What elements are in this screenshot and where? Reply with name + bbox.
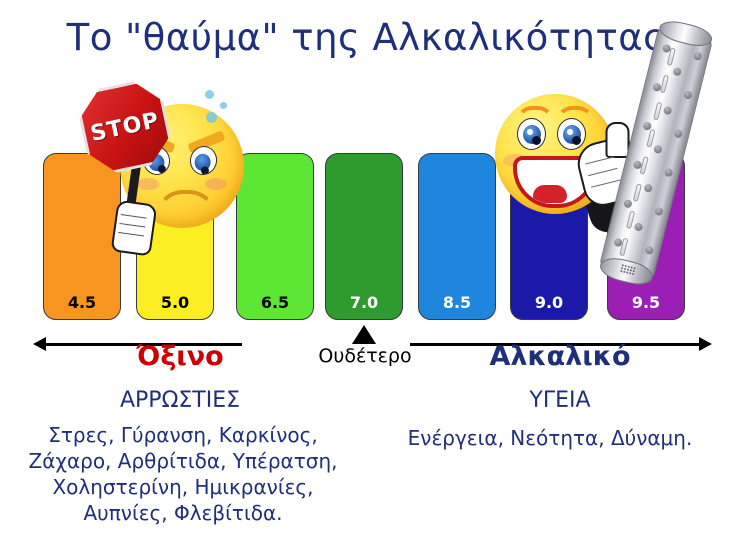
ionizer-perforation-icon (672, 67, 682, 77)
frown-mouth-icon (155, 190, 217, 224)
arrow-right-head-icon (699, 337, 712, 351)
bubble-icon (220, 102, 227, 109)
ph-bar-6-5: 6.5 (236, 153, 314, 320)
ph-bar-value: 5.0 (137, 293, 213, 312)
happy-eye-left-icon (517, 118, 546, 150)
ph-bar-value: 4.5 (44, 293, 120, 312)
mesh-hole-icon (633, 267, 635, 269)
page-title: Το "θαύμα" της Αλκαλικότητας (0, 16, 732, 59)
ph-bar-value: 7.0 (326, 293, 402, 312)
angry-emoji-illustration: STOP (62, 84, 247, 239)
ph-bar-value: 9.5 (608, 293, 684, 312)
bubble-icon (206, 112, 217, 123)
ionizer-slot-icon (653, 102, 662, 121)
arrow-left-head-icon (33, 337, 46, 351)
ionizer-perforation-icon (634, 222, 644, 232)
knuckle-line (588, 168, 617, 176)
iris-icon (193, 152, 212, 172)
ionizer-perforation-icon (644, 245, 654, 255)
ionizer-perforation-icon (673, 129, 683, 139)
ionizer-mesh-icon (619, 264, 637, 279)
stop-sign-label: STOP (88, 108, 161, 147)
alkaline-subheading: ΥΓΕΙΑ (440, 388, 680, 413)
iris-icon (523, 125, 541, 144)
knuckle-line (119, 223, 145, 228)
ionizer-perforation-icon (654, 207, 664, 217)
thumb-icon (606, 122, 630, 158)
neutral-pointer-icon (352, 325, 376, 344)
ionizer-perforation-icon (643, 183, 653, 193)
ionizer-perforation-icon (663, 106, 673, 116)
ionizer-perforation-icon (623, 199, 633, 209)
gloved-hand-icon (111, 199, 158, 256)
ionizer-slot-icon (646, 129, 655, 148)
bubble-icon (205, 90, 214, 99)
cheek-left-icon (137, 178, 159, 190)
acid-condition-list: Στρες, Γύρανση, Καρκίνος, Ζάχαρο, Αρθρίτ… (8, 422, 358, 526)
pupil-icon (200, 166, 209, 175)
ionizer-perforation-icon (683, 90, 693, 100)
pupil-icon (157, 164, 166, 173)
ph-bar-8-5: 8.5 (418, 153, 496, 320)
iris-icon (563, 125, 581, 144)
mesh-hole-icon (632, 273, 634, 275)
tongue-icon (533, 185, 567, 203)
ph-bar-7-0: 7.0 (325, 153, 403, 320)
knuckle-line (118, 232, 144, 237)
ph-bar-value: 6.5 (237, 293, 313, 312)
ph-bar-value: 9.0 (511, 293, 587, 312)
mesh-hole-icon (633, 270, 635, 272)
knuckle-line (585, 156, 614, 164)
eye-highlight-icon (527, 129, 533, 135)
cheek-right-icon (205, 178, 227, 190)
knuckle-line (591, 180, 620, 188)
ionizer-perforation-icon (664, 168, 674, 178)
alkaline-heading: Αλκαλικό (440, 341, 680, 372)
eye-highlight-icon (567, 129, 573, 135)
acid-subheading: ΑΡΡΩΣΤΙΕΣ (60, 388, 300, 413)
alkaline-benefit-list: Ενέργεια, Νεότητα, Δύναμη. (400, 425, 700, 451)
ph-bar-value: 8.5 (419, 293, 495, 312)
ionizer-slot-icon (640, 156, 649, 175)
pupil-icon (532, 136, 541, 145)
ionizer-slot-icon (633, 183, 642, 202)
ionizer-perforation-icon (693, 51, 703, 61)
ionizer-perforation-icon (653, 145, 663, 155)
ionizer-slot-icon (660, 75, 669, 94)
infographic-canvas: Το "θαύμα" της Αλκαλικότητας 4.5 5.0 6.5… (0, 0, 732, 549)
knuckle-line (121, 214, 147, 219)
acid-heading: Όξινο (60, 341, 300, 372)
pupil-icon (572, 136, 581, 145)
happy-eye-right-icon (557, 118, 586, 150)
neutral-label: Ουδέτερο (300, 345, 430, 367)
